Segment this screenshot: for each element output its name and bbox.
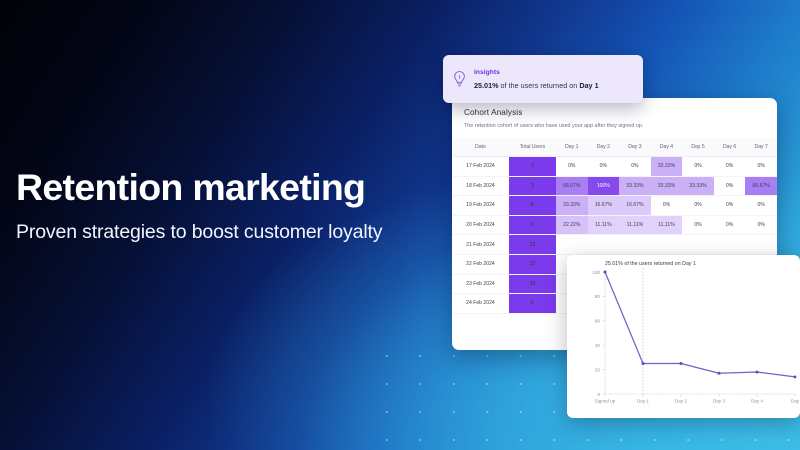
insights-day-label: Day 1 (579, 81, 598, 90)
cell-day-2-retention (588, 235, 620, 255)
page-subtitle: Proven strategies to boost customer loya… (16, 220, 416, 246)
cell-total-users: 5 (509, 294, 556, 314)
cell-day-2-retention: 0% (588, 157, 620, 177)
cell-day-1-retention: 33.33% (556, 196, 588, 216)
cell-day-5-retention: 0% (682, 157, 714, 177)
retention-curve-card: 25.01% of the users returned on Day 1 02… (567, 255, 800, 418)
column-header-day-6[interactable]: Day 6 (714, 138, 746, 157)
y-axis-tick-label: 100 (592, 270, 600, 275)
x-axis-tick-label: Signed up (595, 398, 616, 403)
cell-day-1-retention: 66.67% (556, 176, 588, 196)
table-row[interactable]: 20 Feb 2024922.22%11.11%11.11%11.11%0%0%… (452, 215, 777, 235)
cell-day-3-retention: 11.11% (619, 215, 651, 235)
cell-total-users: 3 (509, 157, 556, 177)
x-axis-tick-label: Day (791, 398, 800, 403)
cell-day-5-retention: 33.33% (682, 176, 714, 196)
lightbulb-icon (452, 70, 467, 89)
cohort-description: The retention cohort of users who have u… (464, 123, 765, 129)
chart-data-point[interactable] (642, 362, 645, 365)
cell-day-4-retention: 0% (651, 196, 683, 216)
y-axis-tick-label: 20 (595, 367, 601, 372)
x-axis-tick-label: Day 3 (713, 398, 725, 403)
cell-day-7-retention: 0% (745, 157, 777, 177)
column-header-total-users[interactable]: Total Users (509, 138, 556, 157)
cell-total-users: 9 (509, 215, 556, 235)
cell-day-1-retention: 0% (556, 157, 588, 177)
table-row[interactable]: 21 Feb 202413 (452, 235, 777, 255)
retention-line-chart: 020406080100Signed upDay 1Day 2Day 3Day … (567, 255, 800, 418)
cell-date: 22 Feb 2024 (452, 254, 509, 274)
chart-series-line (605, 272, 795, 377)
x-axis-tick-label: Day 1 (637, 398, 649, 403)
cell-day-5-retention (682, 235, 714, 255)
cell-day-3-retention (619, 235, 651, 255)
cohort-title: Cohort Analysis (464, 108, 765, 117)
cell-total-users: 3 (509, 176, 556, 196)
cell-day-4-retention (651, 235, 683, 255)
page-title: Retention marketing (16, 168, 436, 207)
cell-date: 24 Feb 2024 (452, 294, 509, 314)
x-axis-tick-label: Day 2 (675, 398, 687, 403)
insights-percent-value: 25.01% (474, 81, 499, 90)
column-header-day-4[interactable]: Day 4 (651, 138, 683, 157)
cell-day-5-retention: 0% (682, 215, 714, 235)
cell-day-4-retention: 11.11% (651, 215, 683, 235)
cell-day-1-retention (556, 235, 588, 255)
cell-day-6-retention (714, 235, 746, 255)
cell-total-users: 13 (509, 235, 556, 255)
cell-day-4-retention: 33.33% (651, 176, 683, 196)
y-axis-tick-label: 80 (595, 294, 601, 299)
cell-day-6-retention: 0% (714, 176, 746, 196)
chart-data-point[interactable] (680, 362, 683, 365)
chart-data-point[interactable] (718, 372, 721, 375)
cell-day-1-retention: 22.22% (556, 215, 588, 235)
cell-total-users: 6 (509, 196, 556, 216)
insights-text-block: Insights 25.01% of the users returned on… (474, 68, 599, 90)
x-axis-tick-label: Day 4 (751, 398, 763, 403)
cell-day-4-retention: 33.33% (651, 157, 683, 177)
chart-data-point[interactable] (604, 271, 607, 274)
column-header-day-2[interactable]: Day 2 (588, 138, 620, 157)
cell-day-7-retention: 0% (745, 196, 777, 216)
cell-day-3-retention: 16.67% (619, 196, 651, 216)
cell-day-2-retention: 100% (588, 176, 620, 196)
column-header-day-5[interactable]: Day 5 (682, 138, 714, 157)
chart-data-point[interactable] (756, 371, 759, 374)
column-header-date[interactable]: Date (452, 138, 509, 157)
cell-day-6-retention: 0% (714, 157, 746, 177)
cell-day-6-retention: 0% (714, 215, 746, 235)
cell-day-2-retention: 11.11% (588, 215, 620, 235)
cell-total-users: 13 (509, 254, 556, 274)
y-axis-tick-label: 0 (597, 392, 600, 397)
cell-date: 17 Feb 2024 (452, 157, 509, 177)
table-row[interactable]: 17 Feb 202430%0%0%33.33%0%0%0% (452, 157, 777, 177)
cell-day-5-retention: 0% (682, 196, 714, 216)
cell-day-2-retention: 16.67% (588, 196, 620, 216)
y-axis-tick-label: 40 (595, 343, 601, 348)
column-header-day-1[interactable]: Day 1 (556, 138, 588, 157)
cell-date: 20 Feb 2024 (452, 215, 509, 235)
hero-text-block: Retention marketing Proven strategies to… (16, 168, 436, 246)
promo-banner: Retention marketing Proven strategies to… (0, 0, 800, 450)
table-header-row: Date Total Users Day 1 Day 2 Day 3 Day 4… (452, 138, 777, 157)
table-row[interactable]: 19 Feb 2024633.33%16.67%16.67%0%0%0%0% (452, 196, 777, 216)
cell-date: 21 Feb 2024 (452, 235, 509, 255)
insights-message-middle: of the users returned on (499, 81, 580, 90)
cell-date: 19 Feb 2024 (452, 196, 509, 216)
y-axis-tick-label: 60 (595, 319, 601, 324)
cell-day-3-retention: 0% (619, 157, 651, 177)
cell-date: 18 Feb 2024 (452, 176, 509, 196)
chart-data-point[interactable] (794, 376, 797, 379)
column-header-day-7[interactable]: Day 7 (745, 138, 777, 157)
cell-day-7-retention (745, 235, 777, 255)
cell-total-users: 10 (509, 274, 556, 294)
cell-day-7-retention: 0% (745, 215, 777, 235)
table-row[interactable]: 18 Feb 2024366.67%100%33.33%33.33%33.33%… (452, 176, 777, 196)
cell-day-7-retention: 66.67% (745, 176, 777, 196)
cell-day-3-retention: 33.33% (619, 176, 651, 196)
insights-card: Insights 25.01% of the users returned on… (443, 55, 643, 103)
insights-label: Insights (474, 69, 599, 76)
cell-date: 23 Feb 2024 (452, 274, 509, 294)
insights-message: 25.01% of the users returned on Day 1 (474, 81, 599, 90)
cell-day-6-retention: 0% (714, 196, 746, 216)
column-header-day-3[interactable]: Day 3 (619, 138, 651, 157)
